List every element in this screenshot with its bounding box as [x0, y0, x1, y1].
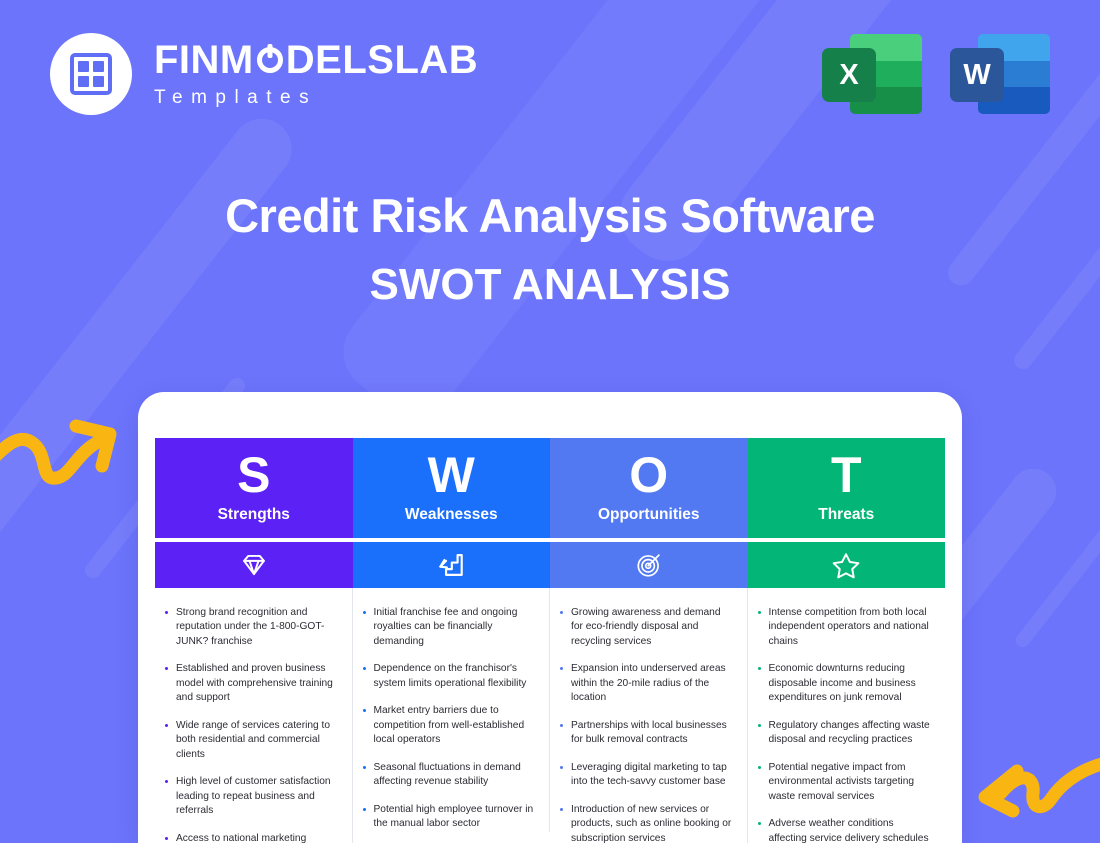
bullet-list-weaknesses: Initial franchise fee and ongoing royalt…: [361, 606, 538, 832]
list-item: Growing awareness and demand for eco-fri…: [558, 606, 735, 649]
column-header-strengths: S Strengths: [155, 438, 353, 538]
list-item: Seasonal fluctuations in demand affectin…: [361, 761, 538, 790]
header-bar: FINM DELSLAB Templates X W: [0, 0, 1100, 148]
swot-table: S Strengths Strong brand recognition and…: [155, 438, 945, 843]
list-item: Strong brand recognition and reputation …: [163, 606, 340, 649]
title-line-1: Credit Risk Analysis Software: [0, 190, 1100, 242]
excel-icon[interactable]: X: [822, 28, 922, 120]
squiggle-arrow-down-left-icon: [955, 745, 1100, 843]
list-item: Potential high employee turnover in the …: [361, 803, 538, 832]
column-header-weaknesses: W Weaknesses: [353, 438, 551, 538]
column-letter-t: T: [831, 452, 862, 500]
word-icon-letter: W: [950, 48, 1004, 102]
bullet-list-threats: Intense competition from both local inde…: [756, 606, 934, 843]
list-item: Regulatory changes affecting waste dispo…: [756, 719, 934, 748]
column-body-threats: Intense competition from both local inde…: [748, 588, 946, 843]
column-letter-w: W: [428, 452, 475, 500]
column-label-strengths: Strengths: [218, 506, 290, 524]
column-label-opportunities: Opportunities: [598, 506, 700, 524]
diamond-gem-icon: [155, 542, 353, 588]
squiggle-arrow-up-right-icon: [0, 404, 130, 500]
list-item: Initial franchise fee and ongoing royalt…: [361, 606, 538, 649]
brand-name-part1: FINM: [154, 40, 254, 80]
grid-icon: [70, 53, 112, 95]
swot-card: S Strengths Strong brand recognition and…: [138, 392, 962, 843]
swot-column-opportunities: O Opportunities Growing awareness and de…: [550, 438, 748, 843]
star-icon: [748, 542, 946, 588]
descending-stairs-icon: [353, 542, 551, 588]
list-item: Expansion into underserved areas within …: [558, 662, 735, 705]
list-item: Introduction of new services or products…: [558, 803, 735, 843]
title-line-2: SWOT ANALYSIS: [0, 260, 1100, 310]
column-letter-o: O: [629, 452, 668, 500]
column-body-strengths: Strong brand recognition and reputation …: [155, 588, 353, 843]
column-letter-s: S: [237, 452, 270, 500]
bullet-list-opportunities: Growing awareness and demand for eco-fri…: [558, 606, 735, 843]
word-icon[interactable]: W: [950, 28, 1050, 120]
list-item: Dependence on the franchisor's system li…: [361, 662, 538, 691]
brand-tagline: Templates: [154, 87, 478, 109]
brand-logo[interactable]: FINM DELSLAB Templates: [50, 33, 478, 115]
excel-icon-letter: X: [822, 48, 876, 102]
column-header-opportunities: O Opportunities: [550, 438, 748, 538]
list-item: High level of customer satisfaction lead…: [163, 775, 340, 818]
list-item: Leveraging digital marketing to tap into…: [558, 761, 735, 790]
list-item: Wide range of services catering to both …: [163, 719, 340, 762]
list-item: Partnerships with local businesses for b…: [558, 719, 735, 748]
column-body-opportunities: Growing awareness and demand for eco-fri…: [550, 588, 748, 843]
bullet-list-strengths: Strong brand recognition and reputation …: [163, 606, 340, 843]
column-body-weaknesses: Initial franchise fee and ongoing royalt…: [353, 588, 551, 832]
list-item: Adverse weather conditions affecting ser…: [756, 817, 934, 843]
app-format-icons: X W: [822, 28, 1050, 120]
list-item: Established and proven business model wi…: [163, 662, 340, 705]
column-label-weaknesses: Weaknesses: [405, 506, 498, 524]
brand-name: FINM DELSLAB: [154, 40, 478, 80]
target-icon: [550, 542, 748, 588]
column-label-threats: Threats: [818, 506, 874, 524]
power-o-icon: [255, 45, 285, 75]
swot-column-threats: T Threats Intense competition from both …: [748, 438, 946, 843]
list-item: Market entry barriers due to competition…: [361, 704, 538, 747]
list-item: Access to national marketing campaigns a…: [163, 832, 340, 843]
column-header-threats: T Threats: [748, 438, 946, 538]
page-title: Credit Risk Analysis Software SWOT ANALY…: [0, 190, 1100, 310]
logo-mark: [50, 33, 132, 115]
brand-name-part2: DELSLAB: [286, 40, 478, 80]
swot-column-weaknesses: W Weaknesses Initial franchise fee and o…: [353, 438, 551, 843]
list-item: Economic downturns reducing disposable i…: [756, 662, 934, 705]
swot-column-strengths: S Strengths Strong brand recognition and…: [155, 438, 353, 843]
list-item: Potential negative impact from environme…: [756, 761, 934, 804]
list-item: Intense competition from both local inde…: [756, 606, 934, 649]
